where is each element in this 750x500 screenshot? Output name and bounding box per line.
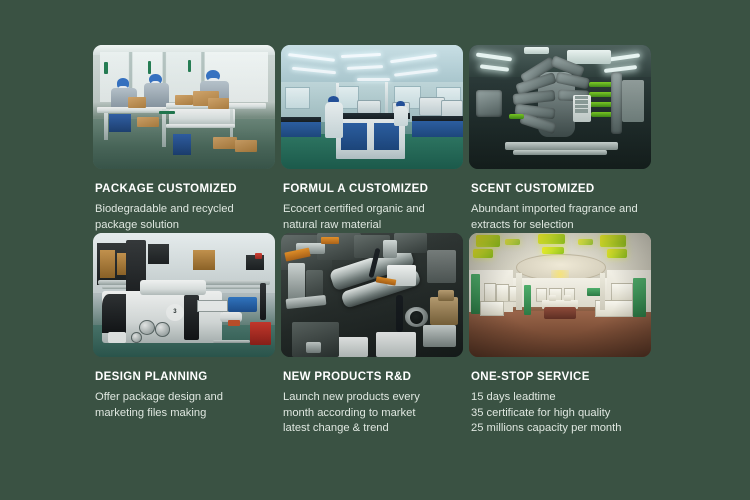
card-title: ONE-STOP SERVICE — [471, 371, 651, 383]
feature-card-scent-customized[interactable]: SCENT CUSTOMIZED Abundant imported fragr… — [469, 45, 657, 233]
card-title: DESIGN PLANNING — [95, 371, 275, 383]
card-description: Launch new products every month accordin… — [283, 390, 463, 437]
card-title: FORMUL A CUSTOMIZED — [283, 183, 463, 195]
laboratory-photo — [281, 45, 463, 169]
card-description: Biodegradable and recycled package solut… — [95, 202, 275, 233]
feature-grid-page: PACKAGE CUSTOMIZED Biodegradable and rec… — [0, 0, 750, 500]
feature-grid: PACKAGE CUSTOMIZED Biodegradable and rec… — [93, 45, 657, 437]
card-description: Abundant imported fragrance and extracts… — [471, 202, 651, 233]
card-title: PACKAGE CUSTOMIZED — [95, 183, 275, 195]
production-machine-photo: 3 — [93, 233, 275, 357]
card-title: SCENT CUSTOMIZED — [471, 183, 651, 195]
card-description: Offer package design and marketing files… — [95, 390, 275, 421]
printing-machine-photo — [469, 45, 651, 169]
feature-card-one-stop-service[interactable]: ONE-STOP SERVICE 15 days leadtime 35 cer… — [469, 233, 657, 437]
packaging-workshop-photo — [93, 45, 275, 169]
card-title: NEW PRODUCTS R&D — [283, 371, 463, 383]
feature-card-design-planning[interactable]: 3 DESIGN PLANNING Offer package design a… — [93, 233, 281, 437]
card-description: 15 days leadtime 35 certificate for high… — [471, 390, 651, 437]
feature-card-formula-customized[interactable]: FORMUL A CUSTOMIZED Ecocert certified or… — [281, 45, 469, 233]
card-description: Ecocert certified organic and natural ra… — [283, 202, 463, 233]
feature-card-package-customized[interactable]: PACKAGE CUSTOMIZED Biodegradable and rec… — [93, 45, 281, 233]
feature-card-new-products-rd[interactable]: NEW PRODUCTS R&D Launch new products eve… — [281, 233, 469, 437]
machinery-closeup-photo — [281, 233, 463, 357]
showroom-photo — [469, 233, 651, 357]
